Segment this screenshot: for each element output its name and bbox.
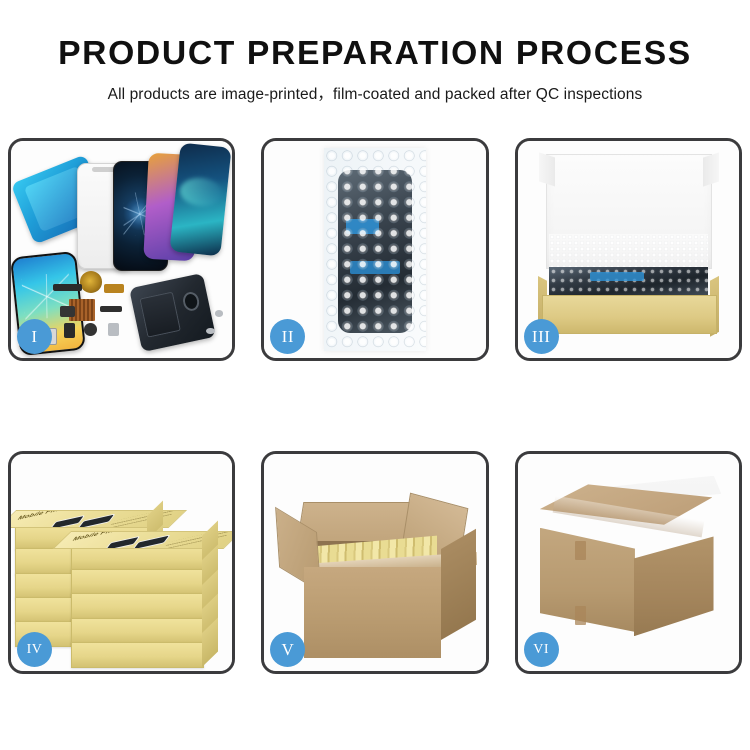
antenna-part-icon	[100, 306, 122, 313]
bubble-texture-outline	[324, 148, 426, 352]
process-step-panel-6: VI	[515, 451, 742, 674]
process-step-panel-3: III	[515, 138, 742, 361]
carton-tape-strip	[575, 541, 586, 561]
teal-phone-icon	[169, 143, 231, 256]
page-subtitle: All products are image-printed，film-coat…	[0, 71, 750, 104]
flex-cable-part-icon	[104, 284, 124, 293]
process-step-panel-5: V	[261, 451, 488, 674]
spare-parts-box	[71, 593, 205, 619]
kraft-box-front	[542, 295, 717, 334]
box-spec-lines	[108, 510, 177, 528]
metal-bracket-part-icon	[108, 323, 119, 336]
vibrator-part-icon	[84, 323, 97, 336]
step-badge-4: IV	[17, 632, 52, 667]
process-step-panel-1: I	[8, 138, 235, 361]
bubble-wrap-bag	[324, 148, 426, 352]
process-step-panel-2: II	[261, 138, 488, 361]
carton-side-face	[634, 536, 714, 636]
camera-module-part-icon	[60, 306, 75, 317]
spare-parts-box	[71, 569, 205, 595]
carton-tape-strip	[575, 606, 586, 626]
connector-strip-part-icon	[53, 284, 82, 291]
carton-front-face	[540, 528, 635, 632]
header: PRODUCT PREPARATION PROCESS All products…	[0, 0, 750, 104]
button-part-icon	[64, 323, 75, 338]
box-stack: Mobile Phone Spare Parts Mobile Ph	[15, 476, 227, 663]
step-badge-6: VI	[524, 632, 559, 667]
product-preparation-infographic: PRODUCT PREPARATION PROCESS All products…	[0, 0, 750, 750]
step-badge-1: I	[17, 319, 52, 354]
step-badge-3: III	[524, 319, 559, 354]
spare-parts-box	[71, 618, 205, 644]
screw-part-icon	[206, 328, 215, 335]
spare-parts-box	[71, 642, 205, 668]
process-step-grid: I II III	[8, 138, 742, 674]
carton-front-face	[304, 567, 441, 658]
spare-parts-box: Mobile Phone Spare Parts	[71, 545, 205, 571]
process-step-panel-4: Mobile Phone Spare Parts Mobile Ph	[8, 451, 235, 674]
screw-part-icon	[215, 310, 224, 317]
box-spec-lines	[163, 531, 232, 549]
page-title: PRODUCT PREPARATION PROCESS	[0, 0, 750, 71]
carton-side-face	[441, 529, 476, 641]
phone-mainboard-icon	[129, 273, 216, 352]
speaker-coil-part-icon	[80, 271, 102, 293]
